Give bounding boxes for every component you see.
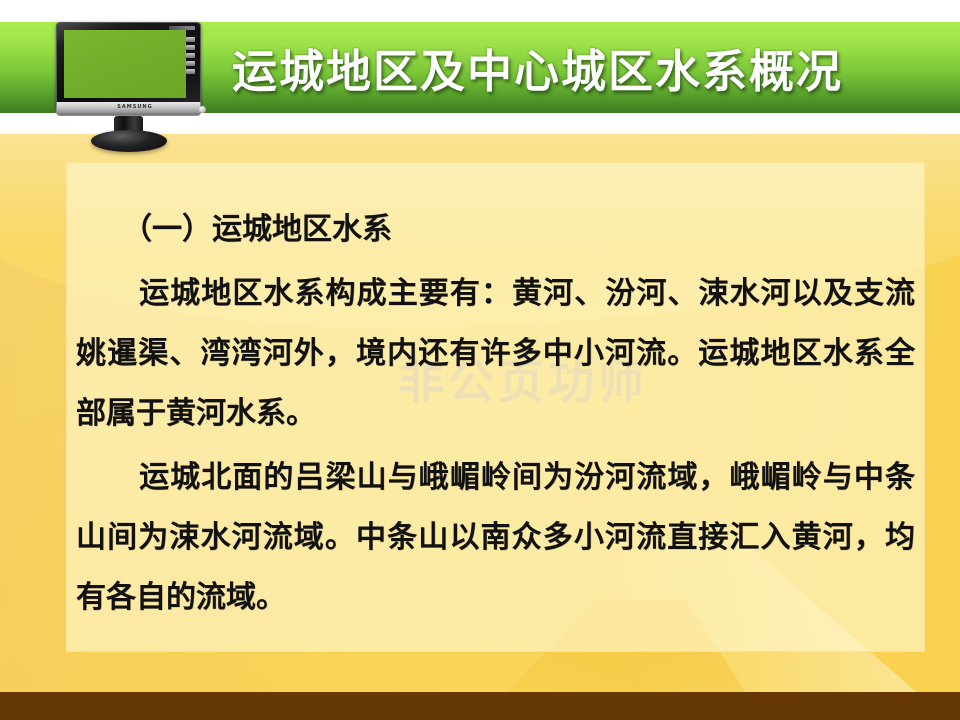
content-heading-label: （一）运城地区水系 xyxy=(122,212,392,247)
content-paragraph-2-text: 运城北面的吕梁山与峨嵋岭间为汾河流域，峨嵋岭与中条山间为涑水河流域。中条山以南众… xyxy=(76,460,915,615)
monitor-buttons-icon xyxy=(186,37,195,77)
slide-body-text: （一）运城地区水系 运城地区水系构成主要有：黄河、汾河、涑水河以及支流姚暹渠、湾… xyxy=(66,200,925,632)
monitor-power-icon xyxy=(199,106,206,113)
content-heading: （一）运城地区水系 xyxy=(76,200,915,260)
content-paragraph-2: 运城北面的吕梁山与峨嵋岭间为汾河流域，峨嵋岭与中条山间为涑水河流域。中条山以南众… xyxy=(76,448,915,628)
presentation-slide: SAMSUNG 运城地区及中心城区水系概况 非公页功师 （一）运城地区水系 运城… xyxy=(0,0,960,720)
monitor-top-label xyxy=(169,26,195,30)
bottom-accent-bar xyxy=(0,692,960,720)
monitor-screen xyxy=(64,30,186,98)
slide-title: 运城地区及中心城区水系概况 xyxy=(232,22,932,113)
content-paragraph-1-text: 运城地区水系构成主要有：黄河、汾河、涑水河以及支流姚暹渠、湾湾河外，境内还有许多… xyxy=(76,276,915,431)
lcd-monitor-icon: SAMSUNG xyxy=(56,22,214,144)
monitor-brand-label: SAMSUNG xyxy=(117,104,152,110)
monitor-stand-base xyxy=(91,130,167,152)
content-paragraph-1: 运城地区水系构成主要有：黄河、汾河、涑水河以及支流姚暹渠、湾湾河外，境内还有许多… xyxy=(76,264,915,444)
monitor-bezel xyxy=(56,22,201,110)
